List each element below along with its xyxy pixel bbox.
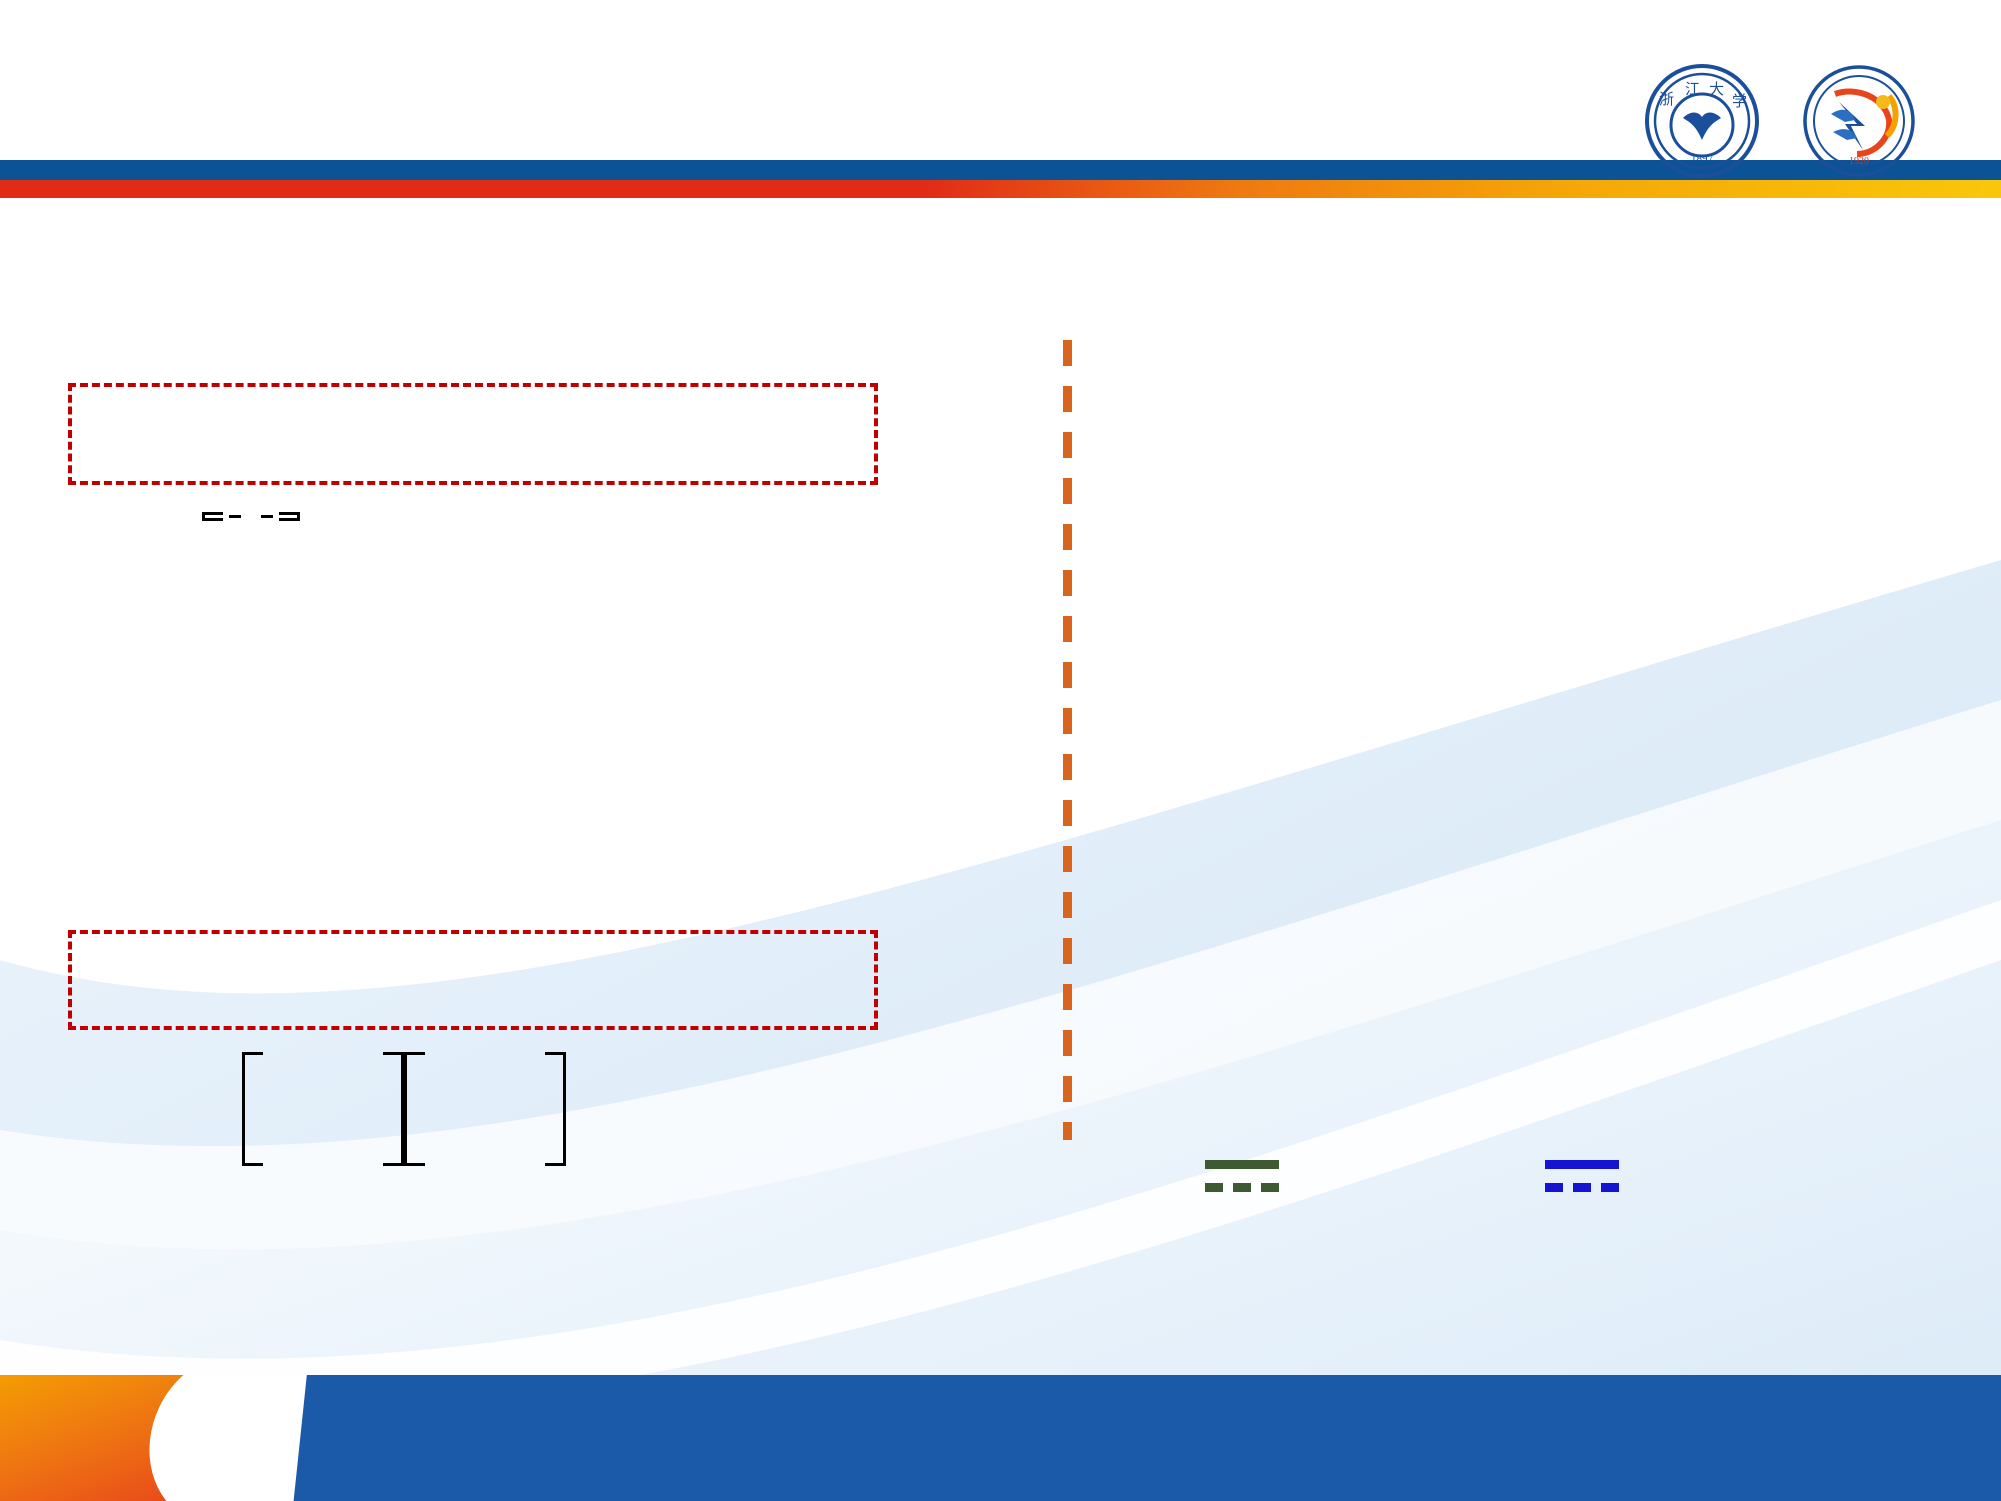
legend-item-mmc-positive [1545,1160,1641,1169]
svg-text:浙: 浙 [1659,91,1674,108]
list-item-continuation [62,702,1012,759]
zhejiang-university-logo: 1897 浙 江 大 学 [1637,62,1767,185]
bode-plot-chart [1095,345,1975,1145]
callout-box-with-coupling [68,930,878,1030]
bracket-right-icon [383,1052,404,1166]
formula-L [218,1052,566,1166]
legend-item-wind-negative [1205,1183,1545,1192]
svg-text:1897: 1897 [1691,153,1714,165]
legend-item-wind-positive [1205,1160,1545,1169]
fraction-bar [229,515,241,518]
criteria-list [62,700,1012,761]
bracket-right-icon [545,1052,566,1166]
legend-row [1205,1183,1995,1192]
footer-publisher-text [0,1375,2001,1501]
formula-K [178,512,300,521]
svg-text:大: 大 [1709,81,1724,98]
bracket-left-icon [242,1052,263,1166]
bracket-right-icon [279,512,300,521]
svg-text:江: 江 [1685,81,1700,98]
legend-row [1205,1160,1995,1169]
svg-text:1920: 1920 [1849,156,1869,167]
fraction-bar [261,515,273,518]
legend-swatch-solid-blue-icon [1545,1160,1619,1169]
legend-swatch-dashed-green-icon [1205,1183,1279,1192]
chart-legend [1205,1160,1995,1206]
legend-swatch-dashed-blue-icon [1545,1183,1619,1192]
legend-swatch-solid-green-icon [1205,1160,1279,1169]
college-of-electrical-engineering-logo: 1920 [1795,62,1923,185]
callout-box-no-coupling [68,383,878,485]
slide-footer [0,1375,2001,1501]
vertical-dashed-separator [1063,340,1072,1140]
bracket-left-icon [202,512,223,521]
legend-item-mmc-negative [1545,1183,1641,1192]
svg-text:学: 学 [1732,93,1747,110]
bracket-left-icon [404,1052,425,1166]
